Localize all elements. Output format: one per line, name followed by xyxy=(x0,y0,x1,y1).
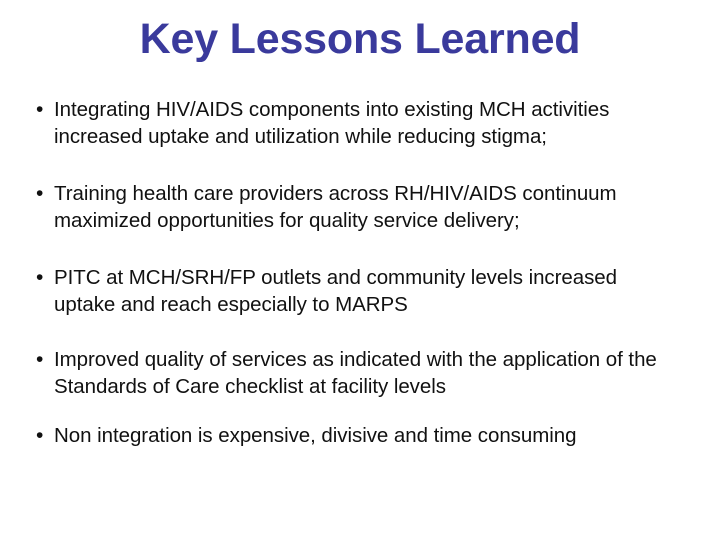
list-item-text: Integrating HIV/AIDS components into exi… xyxy=(54,96,674,150)
bullet-point-icon: • xyxy=(30,96,54,123)
bullet-list: • Integrating HIV/AIDS components into e… xyxy=(30,96,690,449)
list-item: • Training health care providers across … xyxy=(30,180,690,234)
list-item-text: Improved quality of services as indicate… xyxy=(54,346,674,400)
bullet-point-icon: • xyxy=(30,264,54,291)
list-item-text: Training health care providers across RH… xyxy=(54,180,674,234)
list-item: • Improved quality of services as indica… xyxy=(30,346,690,400)
list-item-text: Non integration is expensive, divisive a… xyxy=(54,422,674,449)
bullet-point-icon: • xyxy=(30,422,54,449)
list-item: • Integrating HIV/AIDS components into e… xyxy=(30,96,690,150)
list-item: • Non integration is expensive, divisive… xyxy=(30,422,690,449)
bullet-point-icon: • xyxy=(30,346,54,373)
list-item: • PITC at MCH/SRH/FP outlets and communi… xyxy=(30,264,690,318)
presentation-slide: Key Lessons Learned • Integrating HIV/AI… xyxy=(0,0,720,539)
page-title: Key Lessons Learned xyxy=(0,14,720,64)
list-item-text: PITC at MCH/SRH/FP outlets and community… xyxy=(54,264,674,318)
bullet-point-icon: • xyxy=(30,180,54,207)
